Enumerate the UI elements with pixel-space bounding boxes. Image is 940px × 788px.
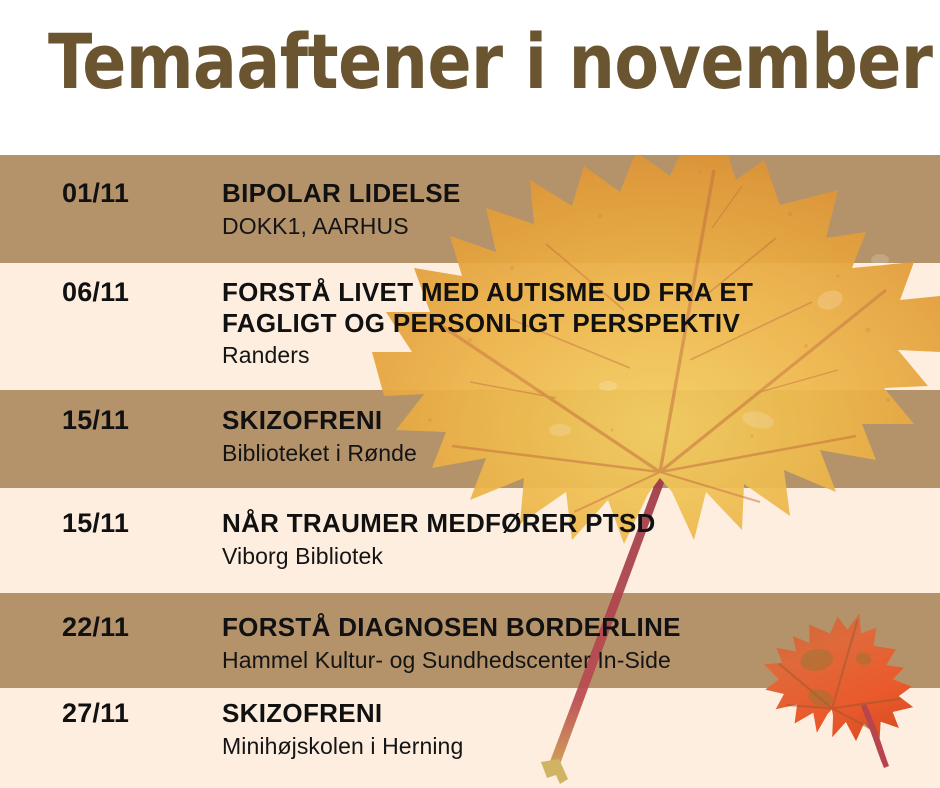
- event-date: 27/11: [62, 698, 129, 729]
- event-info: NÅR TRAUMER MEDFØRER PTSD Viborg Bibliot…: [222, 508, 930, 570]
- event-title: BIPOLAR LIDELSE: [222, 178, 822, 209]
- event-venue: Viborg Bibliotek: [222, 543, 930, 571]
- event-date: 15/11: [62, 405, 129, 436]
- event-date: 15/11: [62, 508, 129, 539]
- event-title: FORSTÅ DIAGNOSEN BORDERLINE: [222, 612, 822, 643]
- event-venue: Minihøjskolen i Herning: [222, 733, 930, 761]
- event-info: SKIZOFRENI Minihøjskolen i Herning: [222, 698, 930, 760]
- event-title: FORSTÅ LIVET MED AUTISME UD FRA ET FAGLI…: [222, 277, 822, 338]
- event-venue: DOKK1, AARHUS: [222, 213, 930, 241]
- title-area: Temaaftener i november: [0, 0, 940, 155]
- event-info: FORSTÅ DIAGNOSEN BORDERLINE Hammel Kultu…: [222, 612, 930, 674]
- event-title: SKIZOFRENI: [222, 405, 822, 436]
- event-venue: Biblioteket i Rønde: [222, 440, 930, 468]
- event-info: SKIZOFRENI Biblioteket i Rønde: [222, 405, 930, 467]
- poster: Temaaftener i november 01/11 BIPOLAR LID…: [0, 0, 940, 788]
- event-info: BIPOLAR LIDELSE DOKK1, AARHUS: [222, 178, 930, 240]
- event-date: 06/11: [62, 277, 129, 308]
- event-date: 01/11: [62, 178, 129, 209]
- event-title: SKIZOFRENI: [222, 698, 822, 729]
- event-venue: Randers: [222, 342, 930, 370]
- event-date: 22/11: [62, 612, 129, 643]
- event-title: NÅR TRAUMER MEDFØRER PTSD: [222, 508, 822, 539]
- event-info: FORSTÅ LIVET MED AUTISME UD FRA ET FAGLI…: [222, 277, 930, 370]
- event-venue: Hammel Kultur- og Sundhedscenter In-Side: [222, 647, 930, 675]
- page-title: Temaaftener i november: [48, 22, 932, 102]
